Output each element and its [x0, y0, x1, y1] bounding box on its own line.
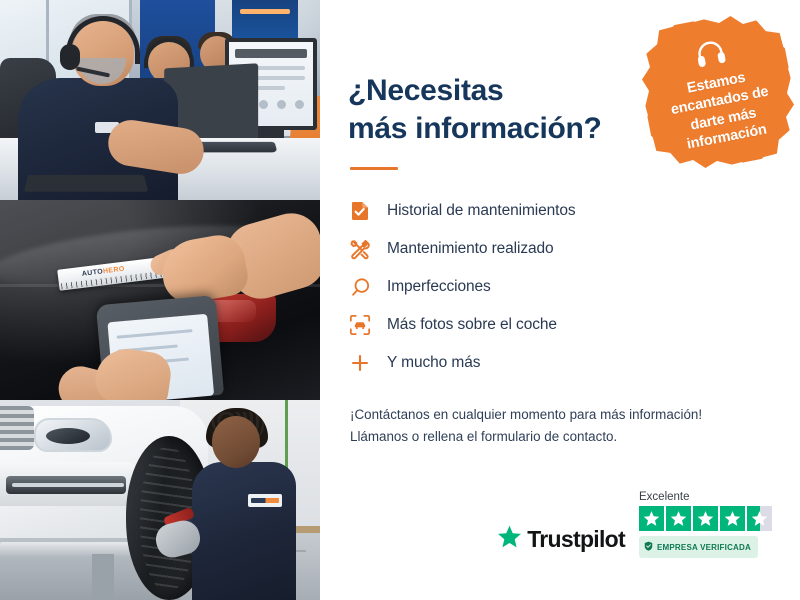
star-filled: [693, 506, 718, 531]
car-scan-frame-icon: [348, 313, 372, 337]
page-title-line-1: ¿Necesitas: [348, 74, 503, 107]
photo-column: AUTOHERO: [0, 0, 320, 600]
trustpilot-star-icon: [497, 524, 522, 554]
car-inspection-ruler-photo: AUTOHERO: [0, 200, 320, 400]
shield-check-icon: [644, 538, 653, 556]
title-underline-rule: [350, 167, 398, 170]
star-filled: [666, 506, 691, 531]
feature-label: Mantenimiento realizado: [387, 240, 554, 258]
page-title: ¿Necesitas más información?: [348, 72, 628, 148]
magnifier-icon: [348, 275, 372, 299]
promo-banner: AUTOHERO: [0, 0, 800, 600]
info-badge: Estamos encantados de darte más informac…: [631, 5, 800, 179]
feature-list: Historial de mantenimientos Mantenimient…: [348, 192, 766, 382]
trustpilot-rating-label: Excelente: [639, 491, 690, 503]
feature-label: Y mucho más: [387, 354, 480, 372]
trustpilot-wordmark: Trustpilot: [527, 526, 625, 553]
star-half: [747, 506, 772, 531]
feature-label: Historial de mantenimientos: [387, 202, 576, 220]
star-filled: [639, 506, 664, 531]
star-rating: [639, 506, 772, 531]
contact-line-2: Llámanos o rellena el formulario de cont…: [350, 429, 617, 444]
feature-item-mucho-mas: Y mucho más: [348, 344, 766, 382]
headset-icon: [693, 38, 728, 74]
trustpilot-score-block: Excelente: [639, 491, 772, 558]
feature-item-mantenimiento: Mantenimiento realizado: [348, 230, 766, 268]
verified-label: EMPRESA VERIFICADA: [657, 543, 751, 552]
tools-cross-icon: [348, 237, 372, 261]
contact-paragraph: ¡Contáctanos en cualquier momento para m…: [350, 404, 766, 447]
star-filled: [720, 506, 745, 531]
page-title-line-2: más información?: [348, 112, 602, 145]
call-center-agents-photo: [0, 0, 320, 200]
status-badge: EMPRESA VERIFICADA: [639, 536, 758, 558]
content-panel: ¿Necesitas más información? Estamos enca…: [320, 0, 800, 600]
plus-icon: [348, 351, 372, 375]
clipboard-check-icon: [348, 199, 372, 223]
feature-item-fotos: Más fotos sobre el coche: [348, 306, 766, 344]
trustpilot-logo[interactable]: Trustpilot: [497, 524, 625, 558]
feature-label: Más fotos sobre el coche: [387, 316, 557, 334]
mechanic-wheel-inspection-photo: [0, 400, 320, 600]
feature-item-historial: Historial de mantenimientos: [348, 192, 766, 230]
feature-item-imperfecciones: Imperfecciones: [348, 268, 766, 306]
contact-line-1: ¡Contáctanos en cualquier momento para m…: [350, 407, 702, 422]
trustpilot-rating[interactable]: Trustpilot Excelente: [497, 491, 772, 558]
feature-label: Imperfecciones: [387, 278, 491, 296]
